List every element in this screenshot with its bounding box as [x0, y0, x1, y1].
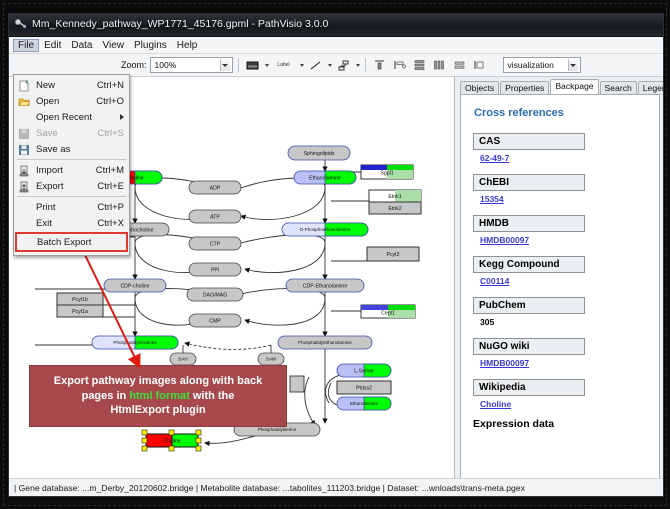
- status-bar-text: | Gene database: ...m_Derby_20120602.bri…: [9, 483, 525, 493]
- gene-box-icon[interactable]: Gene: [244, 57, 261, 74]
- file-menu-print[interactable]: Print Ctrl+P: [14, 199, 129, 215]
- import-icon: [18, 164, 30, 176]
- file-menu-export-label: Export: [36, 181, 63, 192]
- gene-etnk2[interactable]: Etnk2: [369, 202, 421, 214]
- tab-objects[interactable]: Objects: [460, 81, 499, 95]
- xref-label-kegg: Kegg Compound: [473, 256, 585, 273]
- file-menu-print-shortcut: Ctrl+P: [97, 202, 124, 213]
- file-menu-exit[interactable]: Exit Ctrl+X: [14, 215, 129, 231]
- file-menu-open-recent[interactable]: Open Recent: [14, 109, 129, 125]
- zoom-label: Zoom:: [121, 60, 147, 70]
- window-title-text: Mm_Kennedy_pathway_WP1771_45176.gpml - P…: [32, 18, 328, 30]
- callout-line-1: Export pathway images along with back: [54, 374, 262, 389]
- xref-wikipedia: Wikipedia Choline: [473, 377, 647, 409]
- xref-nugo: NuGO wiki HMDB00097: [473, 336, 647, 368]
- svg-text:ATP: ATP: [210, 214, 220, 220]
- svg-text:PPi: PPi: [211, 267, 219, 273]
- svg-text:DAG/MAG: DAG/MAG: [203, 292, 228, 298]
- file-menu-open[interactable]: Open Ctrl+O: [14, 93, 129, 109]
- node-ethanolamine-lower[interactable]: Ethanolamine: [337, 397, 391, 410]
- node-sam[interactable]: SAM: [258, 353, 284, 365]
- node-atp[interactable]: ATP: [189, 210, 241, 223]
- xref-label-nugo: NuGO wiki: [473, 338, 585, 355]
- menu-help[interactable]: Help: [172, 39, 203, 52]
- node-phosphatidylcholines[interactable]: Phosphatidylcholines: [92, 336, 178, 349]
- svg-text:L-Serine: L-Serine: [354, 368, 374, 374]
- node-phosphatidylethanolamine[interactable]: Phosphatidylethanolamine: [278, 336, 372, 349]
- file-menu-open-recent-label: Open Recent: [36, 112, 92, 123]
- side-panel-tabs: Objects Properties Backpage Search Legen…: [455, 77, 663, 94]
- svg-text:Pcyt2: Pcyt2: [387, 252, 400, 258]
- xref-value-nugo: HMDB00097: [480, 358, 647, 368]
- annotation-callout: Export pathway images along with back pa…: [29, 365, 287, 427]
- side-panel: Objects Properties Backpage Search Legen…: [455, 77, 663, 497]
- file-menu-exit-label: Exit: [36, 218, 52, 229]
- file-menu-new[interactable]: New Ctrl+N: [14, 77, 129, 93]
- xref-value-kegg: C00114: [480, 276, 647, 286]
- file-menu-save-as-label: Save as: [36, 144, 70, 155]
- file-menu-save-shortcut: Ctrl+S: [97, 128, 124, 139]
- file-menu-batch-export[interactable]: Batch Export: [15, 232, 128, 252]
- line-icon[interactable]: [307, 57, 324, 74]
- file-menu-new-shortcut: Ctrl+N: [97, 80, 124, 91]
- line-dropdown-icon[interactable]: [328, 64, 332, 67]
- gene-box-dropdown-icon[interactable]: [265, 64, 269, 67]
- svg-text:CTP: CTP: [210, 241, 221, 247]
- toolbar-separator-2: [365, 58, 366, 72]
- menu-view[interactable]: View: [97, 39, 129, 52]
- node-choline-selected[interactable]: Choline: [142, 430, 201, 451]
- xref-link-wikipedia[interactable]: Choline: [480, 399, 511, 409]
- menu-file[interactable]: File: [13, 39, 39, 52]
- xref-link-cas[interactable]: 62-49-7: [480, 153, 509, 163]
- node-sphingolipids[interactable]: Sphingolipids: [288, 146, 350, 160]
- file-menu-open-label: Open: [36, 96, 59, 107]
- pathvisio-application-window: Mm_Kennedy_pathway_WP1771_45176.gpml - P…: [8, 13, 664, 497]
- svg-text:Etnk2: Etnk2: [388, 206, 401, 212]
- xref-value-cas: 62-49-7: [480, 153, 647, 163]
- xref-label-hmdb: HMDB: [473, 215, 585, 232]
- zoom-combo[interactable]: 100%: [150, 57, 233, 73]
- svg-text:Phosphatidylserine: Phosphatidylserine: [258, 427, 297, 432]
- xref-value-wikipedia: Choline: [480, 399, 647, 409]
- gene-cept1[interactable]: Cept1: [361, 305, 415, 318]
- gene-pcyt1a[interactable]: Pcyt1a: [57, 305, 103, 317]
- visualization-combo[interactable]: visualization: [503, 57, 581, 73]
- align-top-icon[interactable]: [371, 57, 388, 74]
- node-o-phosphoethanolamine[interactable]: O-Phosphoethanolamine: [282, 223, 368, 236]
- callout-line-2-prefix: pages in: [82, 390, 130, 402]
- node-cdp-choline[interactable]: CDP-choline: [104, 279, 166, 292]
- node-dag-mag[interactable]: DAG/MAG: [187, 288, 243, 301]
- tab-backpage[interactable]: Backpage: [550, 79, 598, 94]
- gene-pcyt2[interactable]: Pcyt2: [367, 247, 419, 261]
- gene-box-right-small[interactable]: [290, 376, 304, 392]
- svg-text:Choline: Choline: [163, 438, 181, 444]
- menu-bar: File Edit Data View Plugins Help: [9, 37, 663, 54]
- callout-line-2: pages in html format with the: [82, 389, 235, 404]
- label-dropdown-icon[interactable]: [300, 64, 304, 67]
- distribute-vertical-icon[interactable]: [411, 57, 428, 74]
- menu-data[interactable]: Data: [66, 39, 97, 52]
- svg-text:O-Phosphoethanolamine: O-Phosphoethanolamine: [300, 227, 351, 232]
- file-menu-exit-shortcut: Ctrl+X: [97, 218, 124, 229]
- svg-text:CMP: CMP: [209, 318, 221, 324]
- node-cmp[interactable]: CMP: [189, 314, 241, 327]
- window-title-bar: Mm_Kennedy_pathway_WP1771_45176.gpml - P…: [9, 14, 663, 37]
- interaction-dropdown-icon[interactable]: [356, 64, 360, 67]
- file-menu-separator-1: [17, 159, 126, 160]
- svg-text:Etnk1: Etnk1: [388, 194, 401, 200]
- label-icon[interactable]: Label: [272, 57, 296, 74]
- xref-link-nugo[interactable]: HMDB00097: [480, 358, 529, 368]
- svg-text:Ethanolamine: Ethanolamine: [350, 401, 379, 406]
- tab-legend[interactable]: Legend: [638, 81, 664, 95]
- interaction-icon[interactable]: [335, 57, 352, 74]
- expression-data-heading: Expression data: [473, 418, 647, 430]
- svg-text:Phosphatidylethanolamine: Phosphatidylethanolamine: [298, 340, 352, 345]
- gene-ptdss2[interactable]: Ptdss2: [337, 381, 391, 394]
- svg-text:Phosphatidylcholines: Phosphatidylcholines: [113, 340, 157, 345]
- svg-text:SAH: SAH: [178, 357, 187, 362]
- export-icon: [18, 180, 30, 192]
- file-menu-open-shortcut: Ctrl+O: [96, 96, 124, 107]
- node-adp[interactable]: ADP: [189, 181, 241, 194]
- xref-link-kegg[interactable]: C00114: [480, 276, 509, 286]
- open-folder-icon: [18, 95, 30, 107]
- gene-pcyt1b[interactable]: Pcyt1b: [57, 293, 103, 305]
- xref-label-cas: CAS: [473, 133, 585, 150]
- visualization-chevron-down-icon[interactable]: [568, 59, 578, 71]
- file-menu-popup[interactable]: New Ctrl+N Open Ctrl+O Open Recent Save …: [13, 74, 130, 256]
- xref-cas: CAS 62-49-7: [473, 131, 647, 163]
- xref-link-hmdb[interactable]: HMDB00097: [480, 235, 529, 245]
- node-cdp-ethanolamine[interactable]: CDP-Ethanolamine: [286, 279, 364, 292]
- chevron-down-icon[interactable]: [220, 59, 230, 71]
- xref-pubchem: PubChem 305: [473, 295, 647, 327]
- xref-value-pubchem: 305: [480, 317, 647, 327]
- node-sah[interactable]: SAH: [170, 353, 196, 365]
- gene-etnk1[interactable]: Etnk1: [369, 190, 421, 202]
- callout-line-3: HtmlExport plugin: [110, 403, 205, 418]
- node-l-serine[interactable]: L-Serine: [337, 364, 391, 377]
- xref-label-pubchem: PubChem: [473, 297, 585, 314]
- pathvisio-icon: [14, 17, 27, 30]
- distribute-horizontal-icon[interactable]: [431, 57, 448, 74]
- file-menu-new-label: New: [36, 80, 55, 91]
- svg-text:CDP-choline: CDP-choline: [120, 283, 149, 289]
- svg-text:SAM: SAM: [266, 357, 276, 362]
- xref-label-chebi: ChEBI: [473, 174, 585, 191]
- svg-text:Pcyt1a: Pcyt1a: [72, 309, 88, 315]
- status-bar: | Gene database: ...m_Derby_20120602.bri…: [9, 478, 663, 496]
- file-menu-save-label: Save: [36, 128, 58, 139]
- svg-text:CDP-Ethanolamine: CDP-Ethanolamine: [303, 283, 348, 289]
- node-ethanolamine-top[interactable]: Ethanolamine: [294, 171, 356, 184]
- callout-line-2-suffix: with the: [190, 390, 235, 402]
- gene-sgpl1[interactable]: Sgpl1: [361, 165, 413, 179]
- xref-chebi: ChEBI 15354: [473, 172, 647, 204]
- xref-hmdb: HMDB HMDB00097: [473, 213, 647, 245]
- node-ctp[interactable]: CTP: [189, 237, 241, 250]
- svg-text:Cept1: Cept1: [381, 310, 395, 316]
- file-menu-export-shortcut: Ctrl+E: [97, 181, 124, 192]
- file-menu-batch-export-label: Batch Export: [37, 237, 91, 248]
- svg-text:Sphingolipids: Sphingolipids: [304, 151, 335, 157]
- file-menu-import[interactable]: Import Ctrl+M: [14, 162, 129, 178]
- tab-properties[interactable]: Properties: [500, 81, 549, 95]
- menu-edit[interactable]: Edit: [39, 39, 66, 52]
- svg-text:Ptdss2: Ptdss2: [356, 385, 372, 391]
- file-menu-export[interactable]: Export Ctrl+E: [14, 178, 129, 194]
- file-menu-save-as[interactable]: Save as: [14, 141, 129, 157]
- svg-text:Sgpl1: Sgpl1: [380, 170, 393, 176]
- node-ppi[interactable]: PPi: [189, 263, 241, 276]
- xref-link-chebi[interactable]: 15354: [480, 194, 504, 204]
- xref-kegg: Kegg Compound C00114: [473, 254, 647, 286]
- svg-text:Gene: Gene: [247, 63, 258, 68]
- tab-search[interactable]: Search: [600, 81, 637, 95]
- backpage-panel: Cross references CAS 62-49-7 ChEBI 15354…: [460, 94, 660, 482]
- zoom-value: 100%: [155, 60, 177, 70]
- submenu-arrow-icon: [120, 114, 124, 120]
- new-file-icon: [18, 79, 30, 91]
- same-width-icon[interactable]: [451, 57, 468, 74]
- same-height-icon[interactable]: [471, 57, 488, 74]
- file-menu-import-label: Import: [36, 165, 63, 176]
- file-menu-print-label: Print: [36, 202, 56, 213]
- align-left-icon[interactable]: [391, 57, 408, 74]
- cross-references-heading: Cross references: [474, 107, 647, 119]
- file-menu-separator-2: [17, 196, 126, 197]
- xref-label-wikipedia: Wikipedia: [473, 379, 585, 396]
- menu-plugins[interactable]: Plugins: [129, 39, 172, 52]
- application-body: Sphingolipids Choline Ethanolamine: [9, 77, 663, 497]
- xref-value-hmdb: HMDB00097: [480, 235, 647, 245]
- file-menu-import-shortcut: Ctrl+M: [96, 165, 124, 176]
- toolbar-separator: [238, 58, 239, 72]
- xref-value-chebi: 15354: [480, 194, 647, 204]
- visualization-value: visualization: [508, 60, 554, 70]
- svg-text:ADP: ADP: [210, 185, 221, 191]
- callout-highlight: html format: [129, 390, 190, 402]
- save-disk-icon: [18, 127, 30, 139]
- screenshot-frame: Mm_Kennedy_pathway_WP1771_45176.gpml - P…: [0, 0, 670, 509]
- file-menu-save: Save Ctrl+S: [14, 125, 129, 141]
- save-as-icon: [18, 143, 30, 155]
- svg-text:Pcyt1b: Pcyt1b: [72, 297, 88, 303]
- svg-text:Ethanolamine: Ethanolamine: [309, 175, 341, 181]
